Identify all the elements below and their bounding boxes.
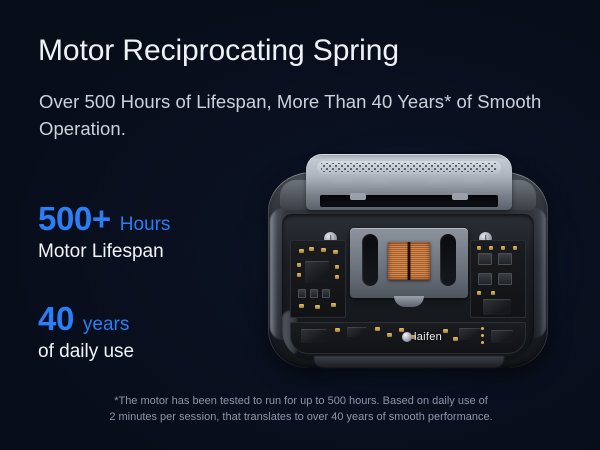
footnote-line-1: *The motor has been tested to run for up… <box>30 393 572 409</box>
solder-pad <box>297 263 301 267</box>
stat-value: 40 <box>38 300 74 337</box>
stat-description: Motor Lifespan <box>38 240 170 264</box>
component-block <box>498 273 512 285</box>
foil-perforations <box>321 163 497 172</box>
solder-dot <box>481 327 484 330</box>
product-cutaway-image: laifen <box>262 150 554 375</box>
solder-pad <box>333 250 338 254</box>
body-base-bar <box>314 356 504 368</box>
footnote-disclaimer: *The motor has been tested to run for up… <box>30 393 572 425</box>
solder-dot <box>481 341 484 344</box>
ic-chip <box>347 327 367 337</box>
ic-chip <box>305 261 329 283</box>
capacitor <box>298 289 306 298</box>
head-tab <box>332 180 354 190</box>
head-seam <box>320 195 498 207</box>
head-tab <box>368 180 390 190</box>
ic-chip <box>459 328 481 340</box>
solder-pad <box>315 305 320 309</box>
solder-pad <box>299 249 304 253</box>
solder-pad <box>299 304 304 308</box>
solder-pad <box>331 303 336 307</box>
head-tab <box>462 180 484 190</box>
capacitor <box>310 289 318 298</box>
promo-banner: Motor Reciprocating Spring Over 500 Hour… <box>0 0 600 450</box>
foil-screen <box>317 161 501 174</box>
motor-housing <box>350 228 468 298</box>
stat-motor-lifespan: 500+ Hours Motor Lifespan <box>38 200 170 264</box>
stat-description: of daily use <box>38 340 134 364</box>
solder-pad <box>297 273 301 277</box>
ic-chip <box>491 330 513 343</box>
ic-chip <box>483 299 511 315</box>
solder-pad <box>321 248 326 252</box>
solder-pad <box>513 246 517 250</box>
solder-pad <box>335 265 339 269</box>
stat-headline-row: 500+ Hours <box>38 200 170 237</box>
component-block <box>478 273 492 285</box>
circuit-board-right <box>470 240 526 318</box>
stat-value: 500+ <box>38 200 111 237</box>
solder-pad <box>387 333 392 337</box>
brand-logo-text: laifen <box>414 331 442 343</box>
solder-pad <box>443 329 448 333</box>
stat-headline-row: 40 years <box>38 300 134 337</box>
page-title: Motor Reciprocating Spring <box>38 33 399 69</box>
stat-daily-use: 40 years of daily use <box>38 300 134 364</box>
internal-chassis: laifen <box>282 214 534 360</box>
component-block <box>498 253 512 265</box>
solder-pad <box>489 246 493 250</box>
motor-slot <box>440 234 456 286</box>
circuit-board-left <box>290 240 346 318</box>
head-clip <box>452 193 468 200</box>
footnote-line-2: 2 minutes per session, that translates t… <box>30 409 572 425</box>
solder-pad <box>399 328 404 332</box>
solder-pad <box>477 291 481 295</box>
motor-slot <box>362 234 378 286</box>
solder-pad <box>375 327 380 331</box>
solder-dot <box>481 334 484 337</box>
solder-pad <box>491 291 495 295</box>
solder-pad <box>453 337 458 341</box>
solder-pad <box>501 246 505 250</box>
stat-unit: years <box>83 314 129 336</box>
component-block <box>478 253 492 265</box>
solder-pad <box>477 246 481 250</box>
motor-foot <box>394 296 424 307</box>
head-clip <box>350 193 366 200</box>
shaver-head <box>306 154 512 210</box>
solder-pad <box>335 275 339 279</box>
head-tab <box>426 180 448 190</box>
brand-mark-icon <box>402 332 412 342</box>
solder-pad <box>309 247 314 251</box>
stat-unit: Hours <box>120 214 171 236</box>
copper-coil <box>388 242 430 280</box>
ic-chip <box>301 329 327 343</box>
capacitor <box>322 289 330 298</box>
solder-pad <box>335 328 340 332</box>
